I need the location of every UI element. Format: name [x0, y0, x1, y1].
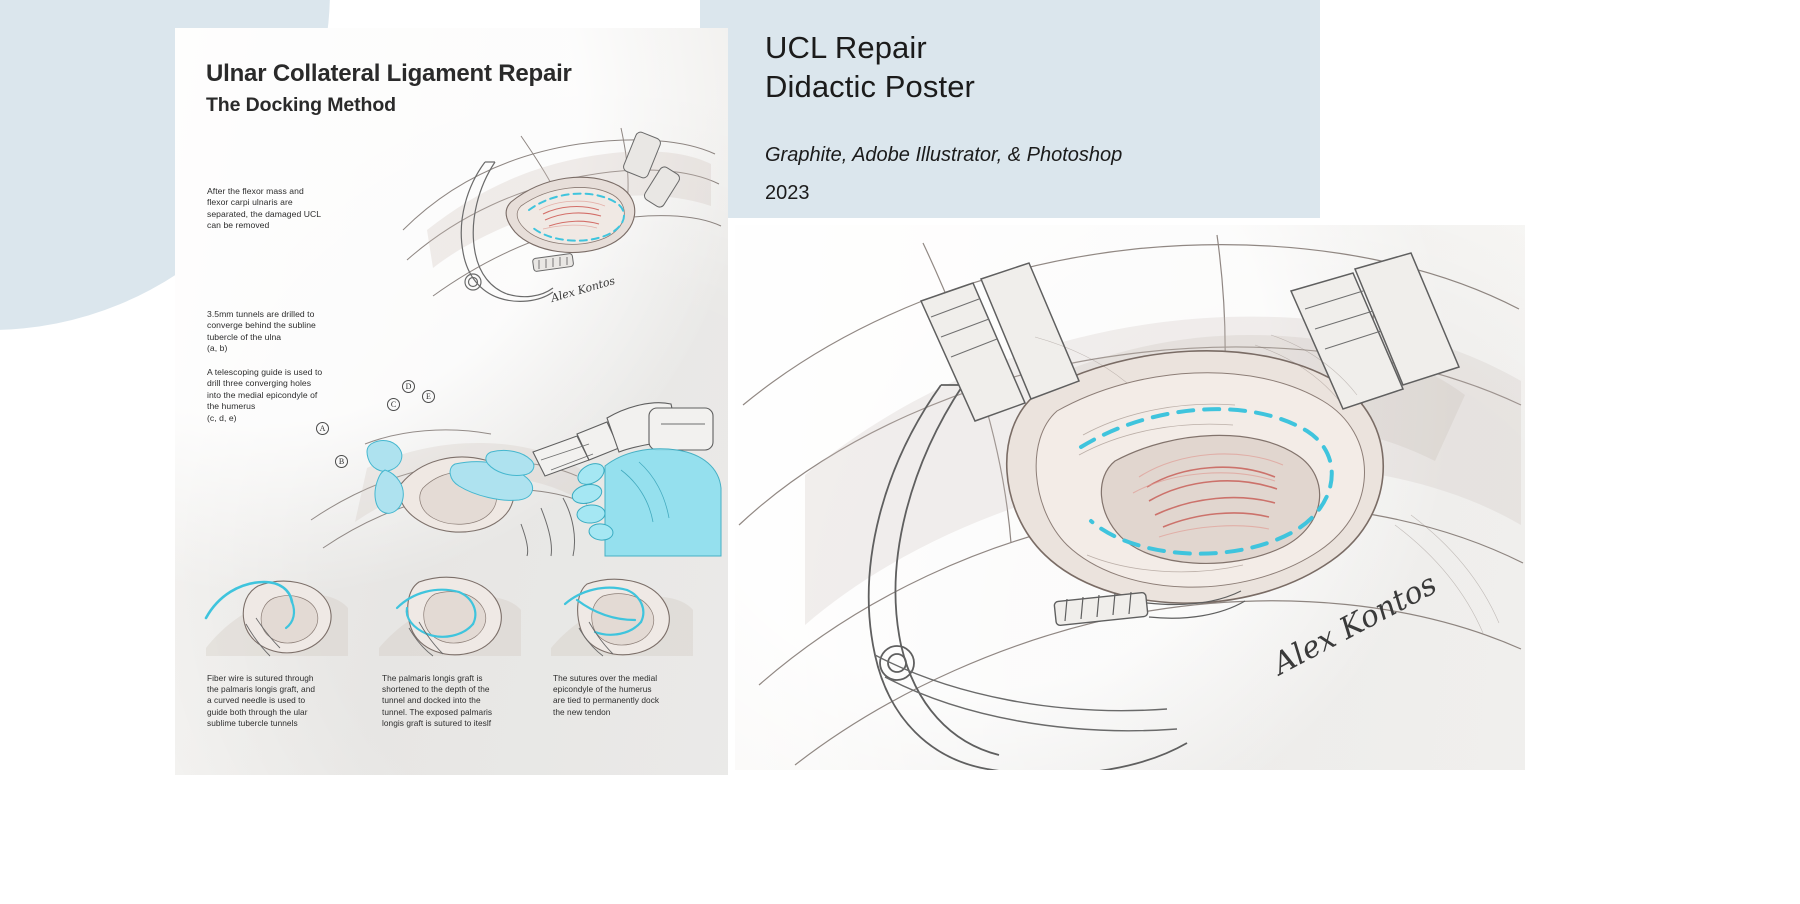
- project-title-line-2: Didactic Poster: [765, 67, 1235, 106]
- detail-image[interactable]: Alex Kontos: [735, 225, 1525, 770]
- illustration-drill-guide: [305, 348, 725, 568]
- poster-caption-1: Fiber wire is sutured through the palmar…: [207, 673, 359, 729]
- project-header: UCL Repair Didactic Poster Graphite, Ado…: [765, 28, 1235, 212]
- diagram-label-E: E: [422, 390, 435, 403]
- project-media: Graphite, Adobe Illustrator, & Photoshop: [765, 136, 1235, 174]
- poster-text-block-1: After the flexor mass and flexor carpi u…: [207, 186, 357, 232]
- illustration-ucl-exposure-detail: [735, 225, 1525, 770]
- poster-title: Ulnar Collateral Ligament Repair: [206, 58, 572, 90]
- poster-caption-2: The palmaris longis graft is shortened t…: [382, 673, 534, 729]
- poster-subtitle: The Docking Method: [206, 92, 396, 118]
- portfolio-page: Ulnar Collateral Ligament Repair The Doc…: [0, 0, 1800, 904]
- poster-image[interactable]: Ulnar Collateral Ligament Repair The Doc…: [175, 28, 728, 775]
- project-year: 2023: [765, 174, 1235, 212]
- project-title-line-1: UCL Repair: [765, 28, 1235, 67]
- illustration-step-3: [547, 556, 697, 664]
- project-meta: Graphite, Adobe Illustrator, & Photoshop…: [765, 136, 1235, 212]
- illustration-step-1: [200, 556, 350, 664]
- diagram-label-D: D: [402, 380, 415, 393]
- diagram-label-C: C: [387, 398, 400, 411]
- diagram-label-A: A: [316, 422, 329, 435]
- illustration-step-2: [375, 556, 525, 664]
- project-title: UCL Repair Didactic Poster: [765, 28, 1235, 106]
- poster-caption-3: The sutures over the medial epicondyle o…: [553, 673, 705, 718]
- illustration-elbow-exposure: [393, 110, 723, 315]
- diagram-label-B: B: [335, 455, 348, 468]
